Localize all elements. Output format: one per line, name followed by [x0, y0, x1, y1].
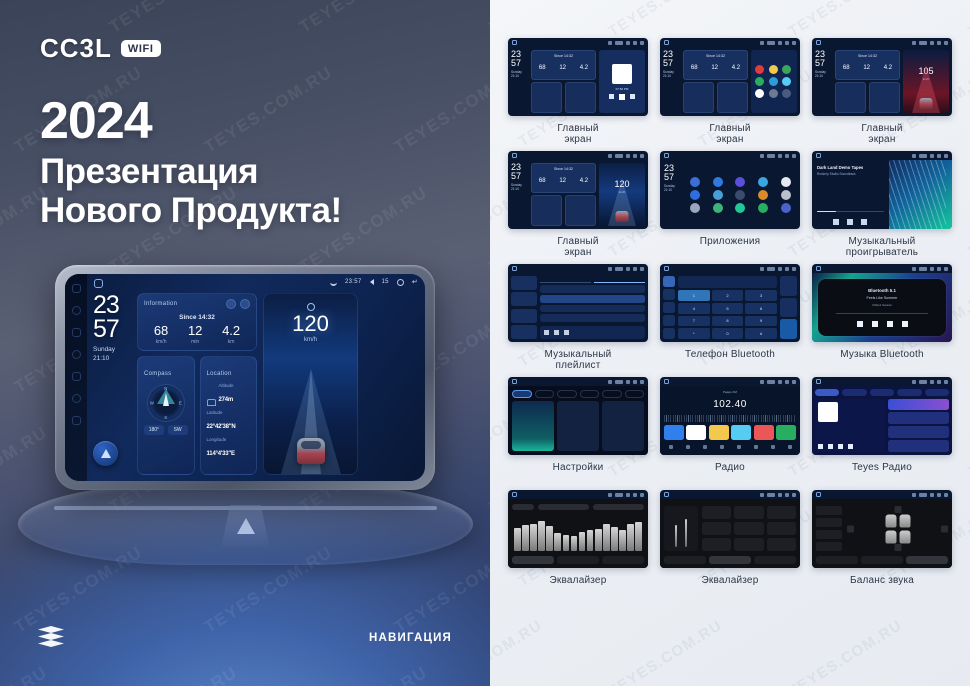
thumb-information-card[interactable]: Since 14:32 68124.2	[531, 163, 596, 193]
caption-home-screen-media: Главныйэкран	[557, 123, 598, 147]
gear-icon	[937, 41, 941, 45]
app-filemanager-icon[interactable]	[753, 190, 774, 200]
next-icon	[838, 444, 843, 449]
thumbnail-settings[interactable]	[508, 377, 648, 455]
phone-actions[interactable]	[780, 276, 797, 339]
clock-icon	[767, 493, 775, 497]
wifi-icon	[608, 41, 612, 45]
thumbnail-teyes-radio[interactable]	[812, 377, 952, 455]
gear-icon[interactable]	[397, 279, 404, 286]
station-list[interactable]	[888, 399, 949, 453]
dial-key-7[interactable]: 7	[678, 316, 710, 327]
radio-toolbar[interactable]	[664, 443, 796, 451]
lead-car-graphic	[920, 98, 933, 109]
eq-band-slider[interactable]	[538, 521, 545, 551]
clock-icon	[767, 41, 775, 45]
thumb-status-bar	[508, 490, 648, 499]
maps-icon	[713, 203, 723, 213]
call-button	[780, 319, 797, 339]
caption-line-1: Главный	[557, 236, 598, 247]
stat-unit: min	[188, 339, 202, 345]
tab-dsp	[709, 556, 751, 564]
volume-icon	[370, 279, 374, 285]
dial-key-2[interactable]: 2	[712, 290, 744, 301]
widgets-column: Information Since 14:32	[137, 293, 257, 475]
radio-tool-icon[interactable]	[771, 445, 775, 449]
thumb-location-card[interactable]	[565, 82, 596, 113]
thumb-compass-card[interactable]	[683, 82, 714, 113]
progress-bar[interactable]	[836, 313, 928, 314]
radio-tool-icon[interactable]	[754, 445, 758, 449]
player-controls[interactable]	[818, 444, 882, 449]
radio-tool-icon[interactable]	[737, 445, 741, 449]
app-control-icon[interactable]	[708, 190, 729, 200]
thumb-status-bar	[508, 38, 648, 47]
rail-icon-apps[interactable]	[72, 328, 81, 337]
radio-preset[interactable]	[754, 425, 774, 440]
balance-presets[interactable]	[816, 506, 842, 551]
radio-tool-icon[interactable]	[686, 445, 690, 449]
thumbnail-equalizer-presets[interactable]	[660, 490, 800, 568]
status-icons	[608, 267, 644, 271]
eq-band-slider[interactable]	[571, 536, 578, 551]
radio-tool-icon[interactable]	[669, 445, 673, 449]
app-apps-icon[interactable]	[775, 203, 796, 213]
player-controls[interactable]	[857, 321, 908, 327]
player-controls[interactable]	[817, 219, 884, 225]
radio-tool-icon[interactable]	[720, 445, 724, 449]
caption-bluetooth-music: Музыка Bluetooth	[840, 349, 924, 373]
widgets-bottom-row: Compass N S W E	[137, 356, 257, 475]
app-usb-icon[interactable]	[730, 190, 751, 200]
balance-left-arrow[interactable]	[847, 525, 854, 532]
clock-icon	[615, 41, 623, 45]
caption-line-2: экран	[868, 134, 895, 145]
caption-line-1: Телефон Bluetooth	[685, 349, 775, 360]
home-icon[interactable]	[816, 379, 821, 384]
thumbnail-music-playlist[interactable]	[508, 264, 648, 342]
thumbnail-home-screen-drive[interactable]: 2357Sunday21:10 Since 14:32 68124.2 105k…	[812, 38, 952, 116]
home-icon[interactable]	[816, 40, 821, 45]
settings-cards[interactable]	[512, 401, 644, 451]
compass-n: N	[164, 386, 167, 391]
watermark-text: TEYES.COM.RU	[490, 617, 546, 686]
eq2-presets[interactable]	[702, 506, 796, 551]
information-card[interactable]: Information Since 14:32	[137, 293, 257, 351]
caption-equalizer-presets: Эквалайзер	[702, 575, 759, 599]
seat-diagram	[885, 514, 910, 543]
next-icon	[902, 321, 908, 327]
wifi-icon	[608, 267, 612, 271]
thumb-compass-card[interactable]	[835, 82, 866, 113]
home-icon[interactable]	[664, 492, 669, 497]
thumb-status-bar	[812, 490, 952, 499]
app-browser-icon[interactable]	[685, 190, 706, 200]
sidebar-favourites	[511, 309, 537, 323]
caption-home-screen-apps: Главныйэкран	[709, 123, 750, 147]
longitude-value: 114°4'33"E	[207, 451, 235, 457]
watermark-text: TEYES.COM.RU	[965, 177, 970, 261]
thumb-clock: 2357Sunday21:10	[511, 50, 528, 113]
thumbnail-radio[interactable]: Радио FM102.40	[660, 377, 800, 455]
home-icon[interactable]	[512, 492, 517, 497]
thumb-drive-widget[interactable]: 105km/h	[903, 50, 949, 113]
dial-key-8[interactable]: 8	[712, 316, 744, 327]
thumb-location-card[interactable]	[565, 195, 596, 226]
balance-down-arrow[interactable]	[894, 544, 901, 551]
thumbnail-bluetooth-phone[interactable]: 123456789*0#	[660, 264, 800, 342]
clock-icon	[919, 41, 927, 45]
bt-card: Bluetooth 5.1 Feels Like Summer Chillout…	[818, 279, 946, 336]
home-icon[interactable]	[664, 379, 669, 384]
thumb-information-card[interactable]: Since 14:32 68124.2	[835, 50, 900, 80]
eq-preset-key[interactable]	[734, 506, 763, 519]
thumb-compass-card[interactable]	[531, 82, 562, 113]
back-arrow-icon	[792, 41, 796, 45]
caption-line-1: Главный	[709, 123, 750, 134]
back-arrow-icon	[944, 267, 948, 271]
dial-key-4[interactable]: 4	[678, 303, 710, 314]
logo-text: CC3L	[40, 33, 112, 64]
thumb-clock: 2357Sunday21:10	[663, 50, 680, 113]
app-maps-icon[interactable]	[708, 203, 729, 213]
back-arrow-icon	[792, 154, 796, 158]
dial-key-5[interactable]: 5	[712, 303, 744, 314]
grid-cell-settings: Настройки	[508, 377, 648, 486]
grid-cell-music-player: Dark Land Demo Tapes Rockery Studio Soun…	[812, 151, 952, 260]
thumbnail-applications[interactable]: 2357Sunday21:10	[660, 151, 800, 229]
compass-readouts: 180° SW	[144, 425, 188, 435]
eq-band-slider[interactable]	[514, 528, 521, 551]
gear-icon	[633, 41, 637, 45]
eq-band-slider[interactable]	[546, 526, 553, 551]
home-icon[interactable]	[664, 153, 669, 158]
status-icons	[608, 41, 644, 45]
home-icon[interactable]	[816, 153, 821, 158]
app-clock-icon[interactable]	[685, 203, 706, 213]
hazard-light-button[interactable]	[222, 505, 270, 547]
eq-band-slider[interactable]	[563, 535, 570, 551]
eq-preset-pill	[512, 504, 534, 510]
phone-sidebar[interactable]	[663, 276, 675, 339]
thumbnail-music-player[interactable]: Dark Land Demo Tapes Rockery Studio Soun…	[812, 151, 952, 229]
wifi-icon	[608, 493, 612, 497]
product-logo: CC3L WIFI	[40, 33, 161, 64]
rail-icon-radio[interactable]	[72, 372, 81, 381]
eq-footer-tabs[interactable]	[816, 556, 948, 564]
app-wifi-icon[interactable]	[685, 177, 706, 187]
eq-band-slider[interactable]	[595, 529, 602, 551]
rail-icon-back[interactable]	[72, 416, 81, 425]
grid-cell-equalizer-presets: Эквалайзер	[660, 490, 800, 599]
caption-line-2: экран	[716, 134, 743, 145]
thumbnail-home-screen-apps[interactable]: 2357Sunday21:10 Since 14:32 68124.2	[660, 38, 800, 116]
eq-band-slider[interactable]	[579, 532, 586, 551]
thumb-widgets: Since 14:32 68124.2	[683, 50, 748, 113]
thumb-stats: 68124.2	[532, 178, 595, 184]
thumb-location-card[interactable]	[717, 82, 748, 113]
thumb-status-bar	[660, 38, 800, 47]
rail-icon-media[interactable]	[72, 350, 81, 359]
dial-key-1[interactable]: 1	[678, 290, 710, 301]
progress-bar[interactable]	[817, 211, 884, 212]
compass-card[interactable]: Compass N S W E	[137, 356, 195, 475]
home-icon[interactable]	[664, 266, 669, 271]
headline-line-2: Нового Продукта!	[40, 191, 342, 230]
clock-icon	[767, 380, 775, 384]
eq-preset-key[interactable]	[767, 538, 796, 551]
app-bluetooth-icon[interactable]	[708, 177, 729, 187]
prev-icon	[544, 330, 549, 335]
app-camera-icon[interactable]	[775, 177, 796, 187]
dial-key-0[interactable]: 0	[712, 328, 744, 339]
play-store-icon	[755, 89, 764, 98]
thumbnail-sound-balance[interactable]	[812, 490, 952, 568]
caption-line-2: экран	[564, 247, 591, 258]
tab-eq	[512, 556, 554, 564]
eq-band-slider[interactable]	[627, 524, 634, 551]
thumb-stats: 68124.2	[684, 65, 747, 71]
thumb-stats: 68124.2	[532, 65, 595, 71]
eq-preset-key[interactable]	[702, 506, 731, 519]
back-arrow-icon	[640, 267, 644, 271]
playlist-row[interactable]	[540, 285, 645, 293]
wifi-icon	[760, 380, 764, 384]
thumb-apps-widget[interactable]	[751, 50, 797, 113]
apps-grid	[685, 164, 796, 225]
radio-preset[interactable]	[776, 425, 796, 440]
altitude-row: Altitude 274m	[207, 383, 251, 406]
watermark-text: TEYES.COM.RU	[0, 0, 52, 38]
thumb-status-bar	[508, 264, 648, 273]
stat-unit: km/h	[154, 339, 168, 345]
eq-band-slider[interactable]	[522, 525, 529, 551]
watermark-text: TEYES.COM.RU	[391, 542, 490, 637]
app-calculator-icon[interactable]	[753, 177, 774, 187]
home-icon[interactable]	[664, 40, 669, 45]
thumb-speed-widget[interactable]: 120km/h	[599, 163, 645, 226]
dial-key-#[interactable]: #	[745, 328, 777, 339]
radio-tool-icon[interactable]	[788, 445, 792, 449]
gallery-icon	[781, 190, 791, 200]
volume-icon	[930, 41, 934, 45]
thumbnail-bluetooth-music[interactable]: Bluetooth 5.1 Feels Like Summer Chillout…	[812, 264, 952, 342]
radio-preset[interactable]	[709, 425, 729, 440]
tab-favourites	[897, 389, 921, 396]
radio-preset[interactable]	[731, 425, 751, 440]
stat-value: 68	[154, 324, 168, 337]
screen-side-rail[interactable]	[65, 274, 87, 481]
teyes-tabs[interactable]	[815, 389, 949, 396]
station-row[interactable]	[888, 426, 949, 438]
station-row[interactable]	[888, 399, 949, 411]
balance-up-arrow[interactable]	[894, 506, 901, 513]
clock-icon	[919, 493, 927, 497]
album-art	[612, 64, 632, 84]
radio-preset[interactable]	[664, 425, 684, 440]
headline-year: 2024	[40, 95, 342, 148]
rail-icon-settings[interactable]	[72, 394, 81, 403]
watermark-text: TEYES.COM.RU	[965, 0, 970, 40]
preset-rear	[816, 530, 842, 539]
watermark-text: TEYES.COM.RU	[391, 62, 490, 157]
station-row[interactable]	[888, 412, 949, 424]
back-arrow-icon	[640, 493, 644, 497]
thumb-compass-card[interactable]	[531, 195, 562, 226]
prev-icon[interactable]	[833, 219, 839, 225]
home-icon[interactable]	[512, 40, 517, 45]
backspace-button	[780, 298, 797, 318]
eq-band-slider[interactable]	[554, 533, 561, 552]
radio-readout: Радио FM102.40	[664, 390, 796, 412]
playlist-row[interactable]	[540, 305, 645, 313]
eq-band-slider[interactable]	[587, 530, 594, 551]
latitude-row: Latitude 22°42'38"N	[207, 410, 251, 433]
next-icon[interactable]	[861, 219, 867, 225]
thumbnail-home-screen-media[interactable]: 2357Sunday21:10 Since 14:32 68124.2 07:5…	[508, 38, 648, 116]
app-play-store-icon[interactable]	[753, 203, 774, 213]
wifi-icon	[912, 267, 916, 271]
dial-keys[interactable]: 123456789*0#	[678, 290, 777, 339]
dial-key-9[interactable]: 9	[745, 316, 777, 327]
recents-tab	[663, 315, 675, 326]
eq-band-slider[interactable]	[635, 522, 642, 551]
playlist-sidebar[interactable]	[511, 276, 537, 339]
status-icons	[760, 154, 796, 158]
frequency-scale[interactable]	[664, 415, 796, 422]
refresh-icon[interactable]	[226, 299, 236, 309]
stat-distance: 4.2 km	[222, 324, 240, 345]
dial-key-6[interactable]: 6	[745, 303, 777, 314]
driving-view-panel[interactable]: 120 km/h	[263, 293, 358, 475]
thumb-information-card[interactable]: Since 14:32 68124.2	[683, 50, 748, 80]
stat-value: 12	[188, 324, 202, 337]
expand-icon[interactable]	[240, 299, 250, 309]
thumb-since: Since 14:32	[532, 167, 595, 171]
wifi-badge: WIFI	[121, 40, 161, 57]
eq-footer-tabs[interactable]	[512, 556, 644, 564]
thumb-information-card[interactable]: Since 14:32 68124.2	[531, 50, 596, 80]
thumbnail-equalizer-bands[interactable]	[508, 490, 648, 568]
sidebar-folders	[511, 325, 537, 339]
playlist-row[interactable]	[540, 295, 645, 303]
eq-preset-key[interactable]	[702, 522, 731, 535]
playlist-tabs[interactable]	[540, 276, 645, 283]
status-icons	[912, 380, 948, 384]
eq-band-slider[interactable]	[619, 530, 626, 551]
playlist-row[interactable]	[540, 314, 645, 322]
radio-tool-icon[interactable]	[703, 445, 707, 449]
back-arrow-icon[interactable]: ↵	[412, 278, 418, 286]
eq-preset-key[interactable]	[702, 538, 731, 551]
settings-tabs[interactable]	[512, 390, 644, 398]
watermark-text: TEYES.COM.RU	[605, 0, 725, 40]
dial-key-*[interactable]: *	[678, 328, 710, 339]
grid-cell-bluetooth-phone: 123456789*0# Телефон Bluetooth	[660, 264, 800, 373]
volume-icon	[626, 267, 630, 271]
eq-preset-key[interactable]	[734, 538, 763, 551]
thumb-location-card[interactable]	[869, 82, 900, 113]
eq-preset-key[interactable]	[767, 522, 796, 535]
home-icon[interactable]	[94, 279, 103, 288]
pause-icon[interactable]	[847, 219, 853, 225]
information-stats: 68 km/h 12 min 4.2	[144, 324, 250, 345]
home-icon[interactable]	[512, 153, 517, 158]
wifi-card	[512, 401, 554, 451]
tab-sound	[535, 390, 555, 398]
eq-preset-key[interactable]	[734, 522, 763, 535]
eq-footer-tabs[interactable]	[664, 556, 796, 564]
home-icon[interactable]	[512, 379, 517, 384]
status-bar: 23:57 15 ↵	[330, 278, 418, 286]
media-time: 07:50 PM	[616, 87, 629, 91]
dial-key-3[interactable]: 3	[745, 290, 777, 301]
thumb-since: Since 14:32	[684, 54, 747, 58]
eq-sliders[interactable]	[512, 511, 644, 554]
station-row[interactable]	[888, 440, 949, 452]
playlist-player-bar[interactable]	[540, 326, 645, 339]
location-title: Location	[207, 371, 232, 377]
eq2-faders[interactable]	[664, 506, 698, 551]
balance-stage[interactable]	[847, 506, 948, 551]
rail-icon-power[interactable]	[72, 284, 81, 293]
navigation-fab-button[interactable]	[93, 441, 118, 466]
caption-equalizer-bands: Эквалайзер	[550, 575, 607, 599]
eq-header[interactable]	[512, 503, 644, 511]
app-music-icon[interactable]	[730, 177, 751, 187]
track-title: Feels Like Summer	[867, 296, 898, 300]
balance-right-arrow[interactable]	[941, 525, 948, 532]
clock-icon	[690, 203, 700, 213]
tab-fader	[602, 556, 644, 564]
longitude-row: Longitude 114°4'33"E	[207, 437, 251, 460]
caption-teyes-radio: Teyes Радио	[852, 462, 912, 486]
dialpad-main: 123456789*0#	[678, 276, 777, 339]
app-music-player-icon[interactable]	[730, 203, 751, 213]
eq-preset-key[interactable]	[767, 506, 796, 519]
watermark-text: TEYES.COM.RU	[965, 397, 970, 481]
eq-band-slider[interactable]	[603, 524, 610, 551]
head-unit-screen[interactable]: 23:57 15 ↵ 23 57 Sunday 21:10	[65, 274, 425, 481]
eq-band-slider[interactable]	[611, 527, 618, 551]
watermark-text: TEYES.COM.RU	[106, 662, 242, 686]
thumb-status-bar	[812, 38, 952, 47]
caption-line-2: проигрыватель	[846, 247, 918, 258]
clock-icon	[919, 380, 927, 384]
home-icon[interactable]	[816, 266, 821, 271]
thumb-status-bar	[660, 490, 800, 499]
thumbnail-home-screen-speed[interactable]: 2357Sunday21:10 Since 14:32 68124.2 120k…	[508, 151, 648, 229]
home-icon[interactable]	[512, 266, 517, 271]
thumb-media-widget[interactable]: 07:50 PM	[599, 50, 645, 113]
rail-icon-home[interactable]	[72, 306, 81, 315]
gear-icon	[633, 380, 637, 384]
thumb-status-bar	[812, 264, 952, 273]
app-gallery-icon[interactable]	[775, 190, 796, 200]
preset-all	[816, 542, 842, 551]
visualizer-graphic	[889, 160, 952, 229]
eq-band-slider[interactable]	[530, 524, 537, 551]
home-icon[interactable]	[816, 492, 821, 497]
screenshot-grid: 2357Sunday21:10 Since 14:32 68124.2 07:5…	[508, 38, 952, 599]
pause-icon	[554, 330, 559, 335]
thumb-widgets: Since 14:32 68124.2	[531, 163, 596, 226]
volume-icon	[778, 41, 782, 45]
grid-cell-home-screen-speed: 2357Sunday21:10 Since 14:32 68124.2 120k…	[508, 151, 648, 260]
radio-preset[interactable]	[686, 425, 706, 440]
thumb-widget-row	[531, 82, 596, 113]
location-card[interactable]: Location Altitude 274m	[200, 356, 258, 475]
